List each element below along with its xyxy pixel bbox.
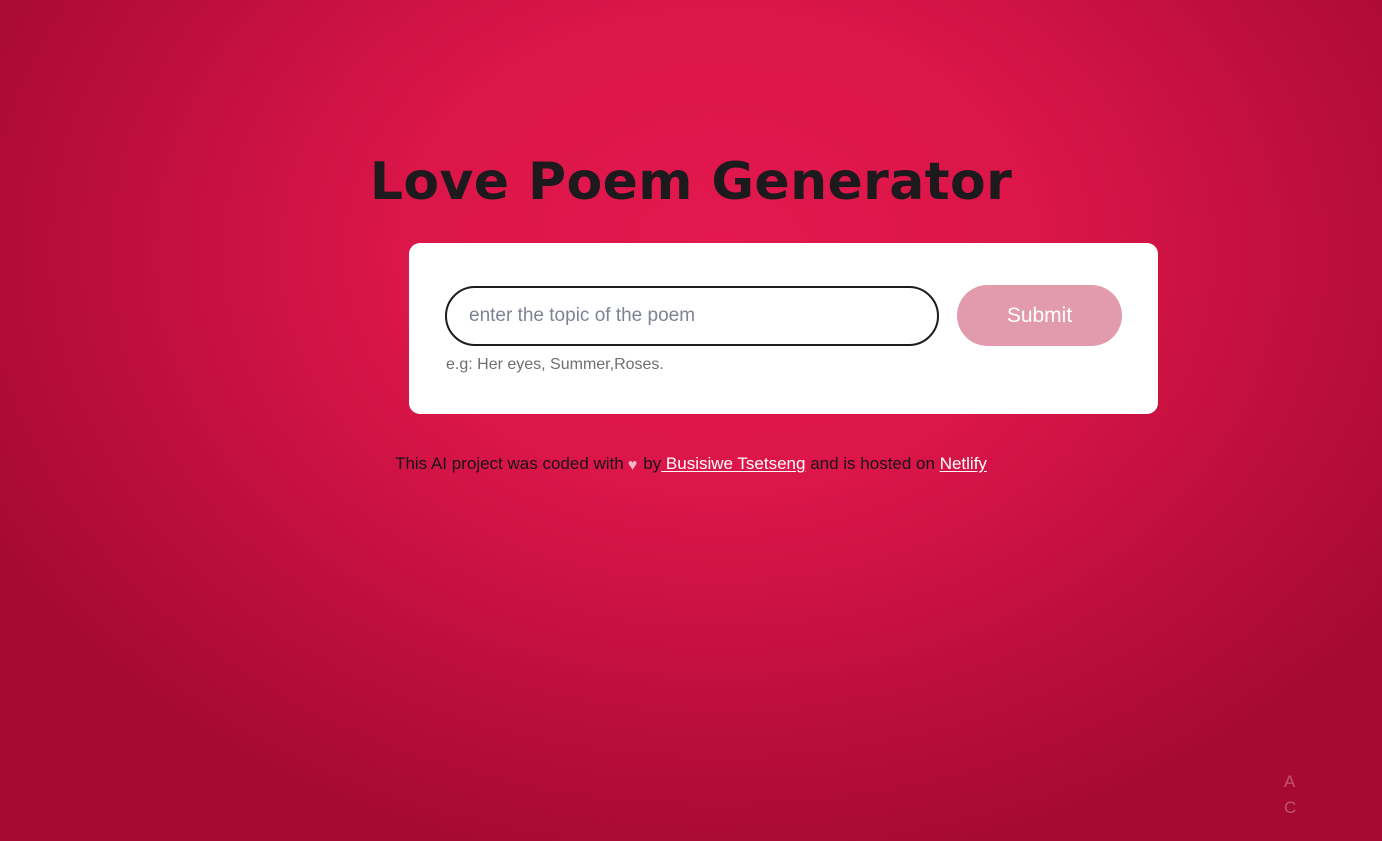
page-title: Love Poem Generator xyxy=(0,148,1382,216)
heart-icon: ♥ xyxy=(628,457,638,475)
footer-middle: and is hosted on xyxy=(805,454,939,473)
poem-form: Submit xyxy=(445,285,1122,346)
footer-credit: This AI project was coded with♥by Busisi… xyxy=(0,454,1382,475)
generator-card: Submit xyxy=(409,243,1158,414)
footer-prefix: This AI project was coded with xyxy=(395,454,624,473)
footer-by: by xyxy=(643,454,661,473)
app-root: Love Poem Generator Submit e.g: Her eyes… xyxy=(0,0,1382,841)
author-link[interactable]: Busisiwe Tsetseng xyxy=(661,454,805,473)
corner-credit: A C xyxy=(1284,769,1382,821)
corner-credit-line-2: C xyxy=(1284,795,1382,821)
corner-credit-line-1: A xyxy=(1284,769,1382,795)
input-hint: e.g: Her eyes, Summer,Roses. xyxy=(446,356,664,374)
topic-input[interactable] xyxy=(445,286,939,346)
netlify-link[interactable]: Netlify xyxy=(940,454,987,473)
submit-button[interactable]: Submit xyxy=(957,285,1122,346)
